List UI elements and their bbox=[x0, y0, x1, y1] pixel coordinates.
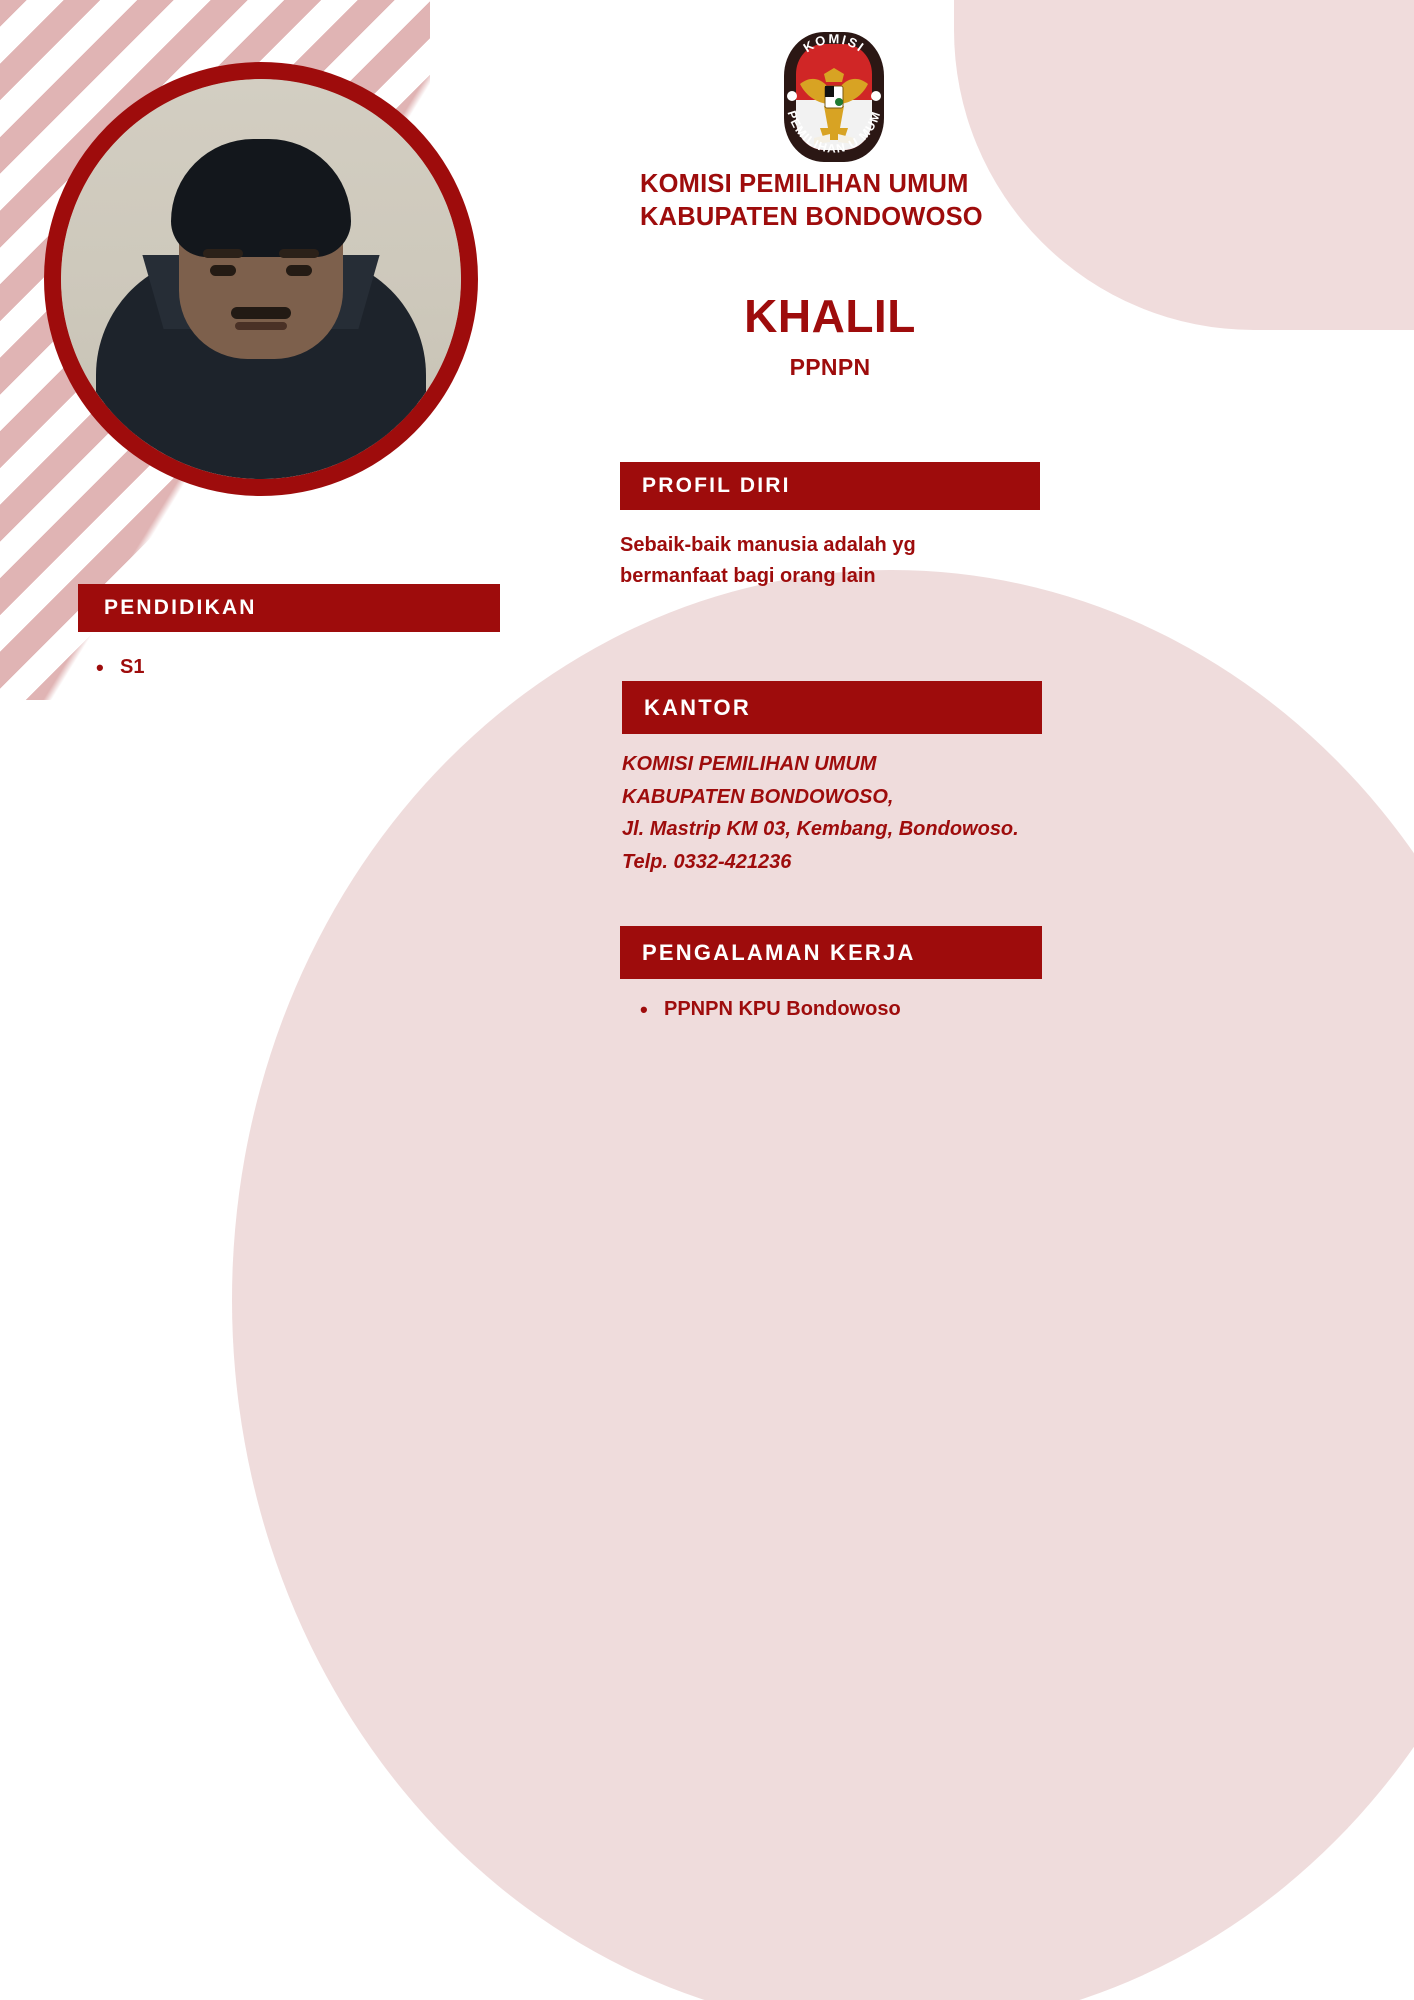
photo-eyebrow-right bbox=[279, 249, 319, 258]
person-role: PPNPN bbox=[620, 354, 1040, 381]
kantor-line-1: KOMISI PEMILIHAN UMUM bbox=[622, 748, 1062, 781]
kpu-logo-icon: KOMISI PEMILIHAN U MUM bbox=[770, 22, 898, 172]
section-header-kantor: KANTOR bbox=[622, 681, 1042, 734]
profil-diri-line-1: Sebaik-baik manusia adalah yg bbox=[620, 530, 1040, 561]
section-header-profil-diri-label: PROFIL DIRI bbox=[642, 474, 791, 498]
section-header-pendidikan-label: PENDIDIKAN bbox=[104, 596, 257, 620]
kantor-line-4: Telp. 0332-421236 bbox=[622, 846, 1062, 879]
pengalaman-kerja-list: PPNPN KPU Bondowoso bbox=[640, 994, 1040, 1024]
photo-eyebrow-left bbox=[203, 249, 243, 258]
top-right-blush-shape bbox=[954, 0, 1414, 330]
section-header-pengalaman-kerja-label: PENGALAMAN KERJA bbox=[642, 940, 916, 966]
photo-eye-right bbox=[286, 265, 312, 276]
photo-eye-left bbox=[210, 265, 236, 276]
section-header-kantor-label: KANTOR bbox=[644, 695, 751, 721]
section-header-pengalaman-kerja: PENGALAMAN KERJA bbox=[620, 926, 1042, 979]
organization-title: KOMISI PEMILIHAN UMUM KABUPATEN BONDOWOS… bbox=[640, 168, 1060, 233]
photo-mouth bbox=[235, 322, 287, 330]
section-header-pendidikan: PENDIDIKAN bbox=[78, 584, 500, 632]
section-header-profil-diri: PROFIL DIRI bbox=[620, 462, 1040, 510]
profile-card-page: KOMISI PEMILIHAN U MUM KOMISI PEMILIHAN … bbox=[0, 0, 1414, 2000]
list-item: S1 bbox=[96, 652, 476, 682]
list-item: PPNPN KPU Bondowoso bbox=[640, 994, 1040, 1024]
profil-diri-text: Sebaik-baik manusia adalah yg bermanfaat… bbox=[620, 530, 1040, 592]
photo-hair bbox=[171, 139, 351, 257]
photo-moustache bbox=[231, 307, 291, 319]
avatar bbox=[44, 62, 478, 496]
kantor-address: KOMISI PEMILIHAN UMUM KABUPATEN BONDOWOS… bbox=[622, 748, 1062, 878]
pendidikan-list: S1 bbox=[96, 652, 476, 682]
kantor-line-2: KABUPATEN BONDOWOSO, bbox=[622, 781, 1062, 814]
kantor-line-3: Jl. Mastrip KM 03, Kembang, Bondowoso. bbox=[622, 813, 1062, 846]
organization-title-line-1: KOMISI PEMILIHAN UMUM bbox=[640, 168, 1060, 201]
avatar-photo bbox=[61, 79, 461, 479]
profil-diri-line-2: bermanfaat bagi orang lain bbox=[620, 561, 1040, 592]
name-block: KHALIL PPNPN bbox=[620, 292, 1040, 381]
person-name: KHALIL bbox=[620, 292, 1040, 340]
organization-title-line-2: KABUPATEN BONDOWOSO bbox=[640, 201, 1060, 234]
